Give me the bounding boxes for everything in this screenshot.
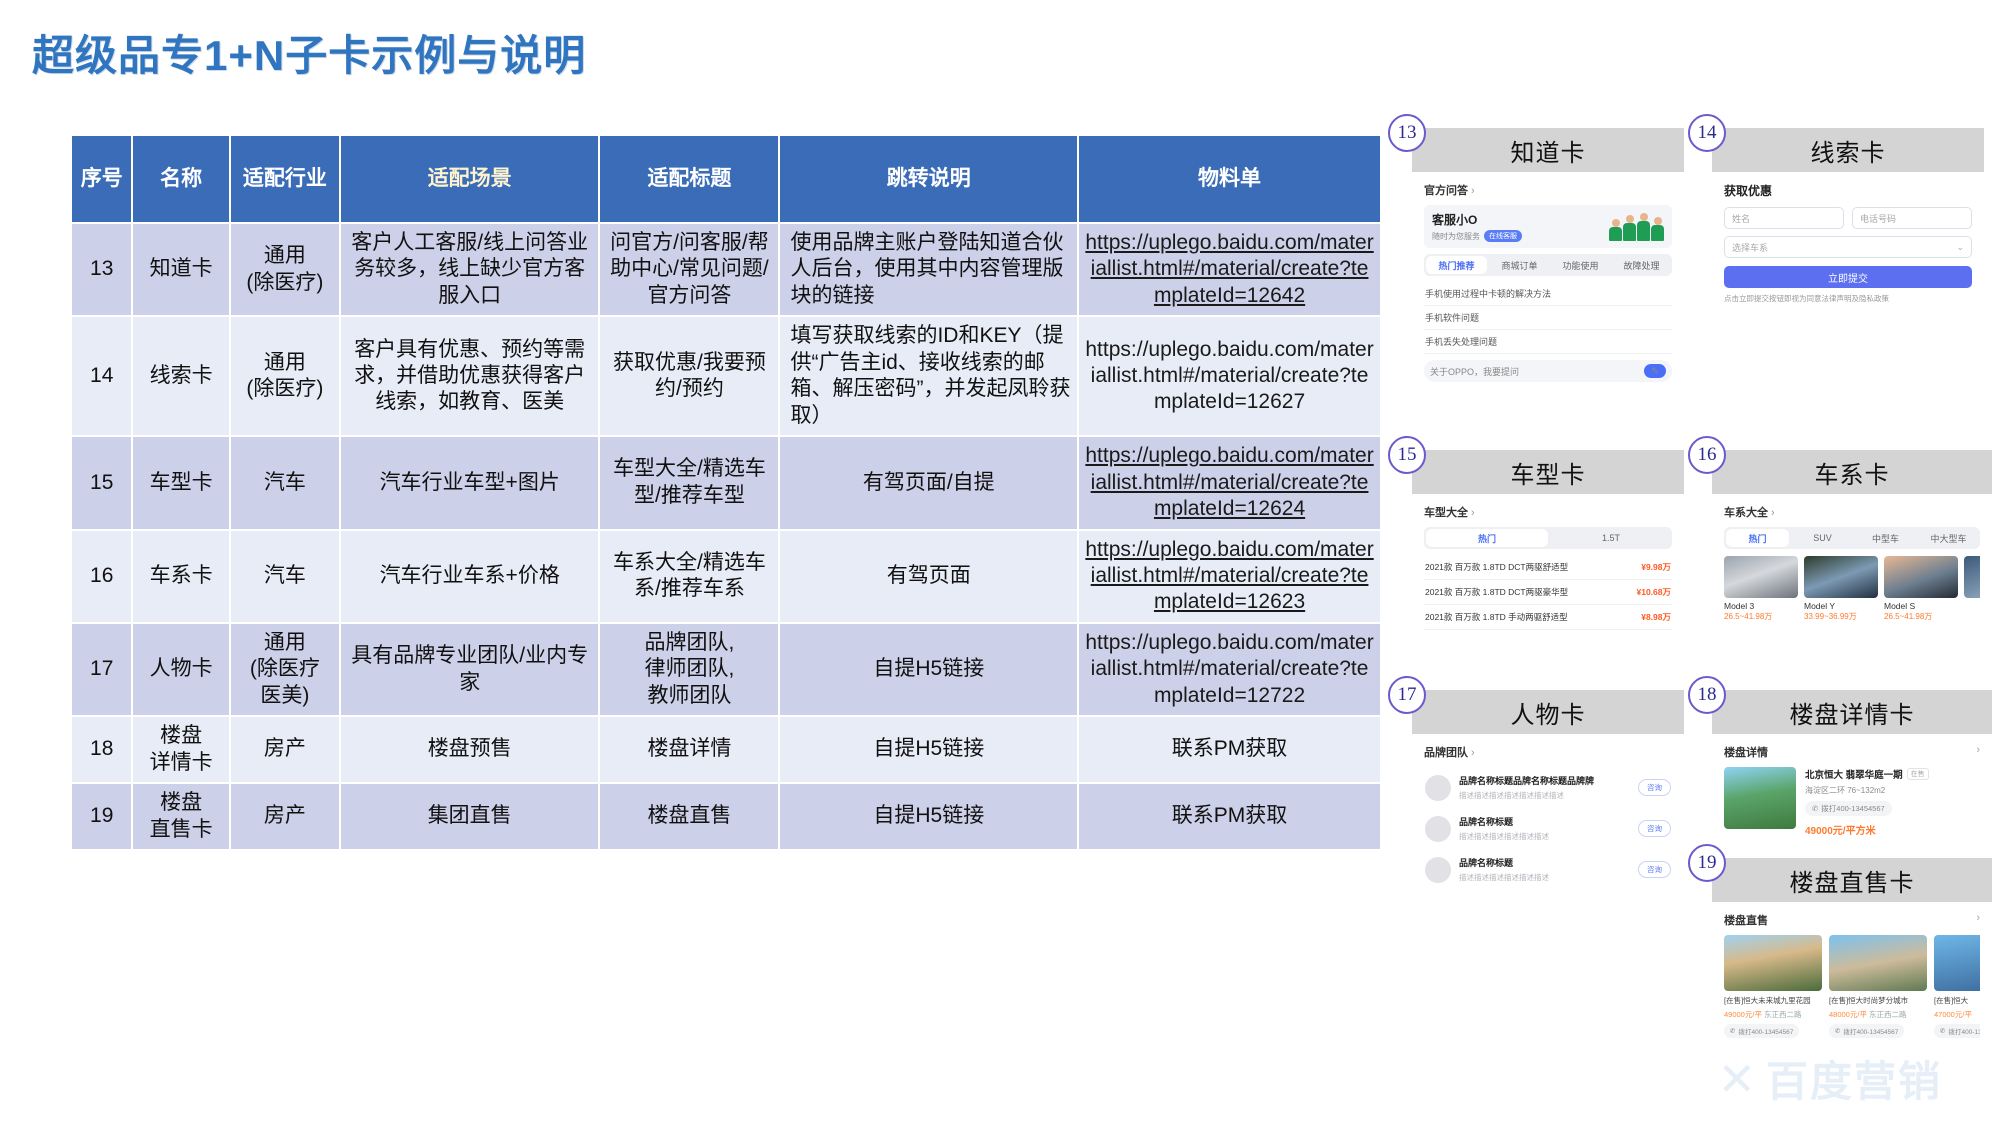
privacy-note: 点击立即提交按钮即视为同意法律声明及隐私政策 <box>1724 293 1972 304</box>
listing-phone-label: 拨打400-13454567 <box>1738 1026 1793 1036</box>
listing-price-value: 47000元/平 <box>1934 1010 1972 1019</box>
preview-card-15[interactable]: 15 车型卡 车型大全 › 热门1.5T 2021款 百万款 1.8TD DCT… <box>1412 450 1684 640</box>
cell-no: 18 <box>71 716 132 783</box>
service-agent-block[interactable]: 客服小O 随时为您服务 在线客服 <box>1424 205 1672 248</box>
listing-photo <box>1724 935 1822 991</box>
card-title-16: 车系卡 <box>1712 450 1992 494</box>
pencil-icon[interactable]: ✎ <box>1644 364 1666 378</box>
people-list-17: 品牌名称标题品牌名称标题品牌牌描述描述描述描述描述描述描述咨询品牌名称标题描述描… <box>1424 767 1672 890</box>
listing-price: 48000元/平 东正西二路 <box>1829 1009 1927 1020</box>
car-name: Model S <box>1884 601 1958 611</box>
tab-1[interactable]: 商城订单 <box>1489 254 1550 276</box>
car-photo <box>1804 556 1878 598</box>
submit-button[interactable]: 立即提交 <box>1724 266 1972 288</box>
section-link-19[interactable]: 楼盘直售 › <box>1724 912 1980 928</box>
series-select-value: 选择车系 <box>1732 241 1768 254</box>
cell-jump: 自提H5链接 <box>779 716 1078 783</box>
tab-0[interactable]: 热门 <box>1426 529 1548 547</box>
car-photo <box>1884 556 1958 598</box>
slide-root: 超级品专1+N子卡示例与说明 序号 名称 适配行业 适配场景 适配标题 跳转说明… <box>0 0 2000 1125</box>
listing-price: 49000元/平 东正西二路 <box>1724 1009 1822 1020</box>
cell-industry: 通用 (除医疗) <box>230 223 340 316</box>
card-previews-panel: 13 知道卡 官方问答 › 客服小O 随时为您服务 在线客服 <box>1412 128 1992 1118</box>
listing-phone-button[interactable]: ✆拨打400-13454567 <box>1934 1024 1980 1038</box>
cell-scene: 客户人工客服/线上问答业务较多，线上缺少官方客服入口 <box>340 223 599 316</box>
series-tabs-16[interactable]: 热门SUV中型车中大型车 <box>1724 527 1980 549</box>
card-body-15: 车型大全 › 热门1.5T 2021款 百万款 1.8TD DCT两驱舒适型¥9… <box>1412 494 1684 640</box>
material-link[interactable]: https://uplego.baidu.com/materiallist.ht… <box>1085 444 1373 520</box>
cell-no: 19 <box>71 783 132 850</box>
phone-icon: ✆ <box>1835 1027 1840 1035</box>
material-link: 联系PM获取 <box>1172 804 1288 827</box>
table-row: 14线索卡通用 (除医疗)客户具有优惠、预约等需求，并借助优惠获得客户线索，如教… <box>71 316 1381 436</box>
name-field[interactable]: 姓名 <box>1724 207 1844 229</box>
col-header-scene: 适配场景 <box>340 135 599 223</box>
section-link-label-17: 品牌团队 <box>1424 747 1468 759</box>
page-title: 超级品专1+N子卡示例与说明 <box>32 22 586 83</box>
cell-jump: 使用品牌主账户登陆知道合伙人后台，使用其中内容管理版块的链接 <box>779 223 1078 316</box>
model-tabs-15[interactable]: 热门1.5T <box>1424 527 1672 549</box>
cell-jump: 填写获取线索的ID和KEY（提供“广告主id、接收线索的邮箱、解压密码”，并发起… <box>779 316 1078 436</box>
table-body: 13知道卡通用 (除医疗)客户人工客服/线上问答业务较多，线上缺少官方客服入口问… <box>71 223 1381 850</box>
card-title-18: 楼盘详情卡 <box>1712 690 1992 734</box>
section-link-label-13: 官方问答 <box>1424 185 1468 197</box>
material-link[interactable]: https://uplego.baidu.com/materiallist.ht… <box>1085 631 1373 707</box>
car-item[interactable]: Model 326.5~41.98万 <box>1724 556 1798 622</box>
model-name: 2021款 百万款 1.8TD DCT两驱豪华型 <box>1425 586 1568 598</box>
person-name: 品牌名称标题 <box>1459 815 1630 828</box>
service-agent-sub-text: 随时为您服务 <box>1432 231 1480 242</box>
house-status-tag: 在售 <box>1907 768 1929 780</box>
phone-icon: ✆ <box>1940 1027 1945 1035</box>
material-link[interactable]: https://uplego.baidu.com/materiallist.ht… <box>1085 231 1373 307</box>
listing-price: 47000元/平 <box>1934 1009 1980 1020</box>
series-select[interactable]: 选择车系 ⌄ <box>1724 236 1972 258</box>
preview-card-17[interactable]: 17 人物卡 品牌团队 › 品牌名称标题品牌名称标题品牌牌描述描述描述描述描述描… <box>1412 690 1684 900</box>
cell-scene: 集团直售 <box>340 783 599 850</box>
car-name: Model 3 <box>1724 601 1798 611</box>
house-price: 49000元/平方米 <box>1805 822 1980 837</box>
listing-price-value: 49000元/平 <box>1724 1010 1762 1019</box>
preview-card-13[interactable]: 13 知道卡 官方问答 › 客服小O 随时为您服务 在线客服 <box>1412 128 1684 392</box>
cell-scene: 汽车行业车型+图片 <box>340 436 599 529</box>
cell-industry: 房产 <box>230 783 340 850</box>
listing-phone-label: 拨打400-13454567 <box>1948 1026 1980 1036</box>
arrow-right-icon: › <box>1976 912 1980 928</box>
section-link-label-18: 楼盘详情 <box>1724 744 1768 760</box>
material-link: 联系PM获取 <box>1172 737 1288 760</box>
section-link-label-15: 车型大全 <box>1424 507 1468 519</box>
card-badge-13: 13 <box>1388 114 1426 152</box>
listing-name: [在售]恒大未来城九里花园 <box>1724 995 1822 1006</box>
preview-card-14[interactable]: 14 线索卡 获取优惠 姓名 电话号码 选择车系 ⌄ 立即提交 点击立即提交按钮… <box>1712 128 1984 314</box>
person-desc: 描述描述描述描述描述描述 <box>1459 872 1630 883</box>
cell-no: 17 <box>71 623 132 716</box>
listing-item[interactable]: [在售]恒大时尚梦分城市48000元/平 东正西二路✆拨打400-1345456… <box>1829 935 1927 1038</box>
table-row: 17人物卡通用 (除医疗 医美)具有品牌专业团队/业内专家品牌团队, 律师团队,… <box>71 623 1381 716</box>
tab-0[interactable]: 热门 <box>1726 529 1789 547</box>
card-title-17: 人物卡 <box>1412 690 1684 734</box>
cell-title: 楼盘直售 <box>599 783 779 850</box>
tab-1[interactable]: SUV <box>1791 527 1854 549</box>
cell-title: 车型大全/精选车型/推荐车型 <box>599 436 779 529</box>
cell-scene: 汽车行业车系+价格 <box>340 530 599 623</box>
card-body-17: 品牌团队 › 品牌名称标题品牌名称标题品牌牌描述描述描述描述描述描述描述咨询品牌… <box>1412 734 1684 900</box>
tab-2[interactable]: 中型车 <box>1854 527 1917 549</box>
house-phone-button[interactable]: ✆ 拨打400-13454567 <box>1805 801 1892 816</box>
cell-industry: 汽车 <box>230 530 340 623</box>
chevron-right-icon: › <box>1468 747 1475 759</box>
listing-district: 东正西二路 <box>1762 1010 1802 1019</box>
person-name: 品牌名称标题品牌名称标题品牌牌 <box>1459 774 1630 787</box>
cell-material: 联系PM获取 <box>1078 783 1381 850</box>
section-link-label-19: 楼盘直售 <box>1724 912 1768 928</box>
card-title-15: 车型卡 <box>1412 450 1684 494</box>
section-link-15[interactable]: 车型大全 › <box>1424 504 1672 520</box>
card-badge-18: 18 <box>1688 676 1726 714</box>
listing-item[interactable]: [在售]恒大未来城九里花园49000元/平 东正西二路✆拨打400-134545… <box>1724 935 1822 1038</box>
card-body-14: 获取优惠 姓名 电话号码 选择车系 ⌄ 立即提交 点击立即提交按钮即视为同意法律… <box>1712 172 1984 314</box>
person-desc: 描述描述描述描述描述描述描述 <box>1459 790 1630 801</box>
avatar <box>1425 775 1451 801</box>
phone-icon: ✆ <box>1812 804 1818 813</box>
col-header-industry: 适配行业 <box>230 135 340 223</box>
cell-no: 14 <box>71 316 132 436</box>
cell-scene: 客户具有优惠、预约等需求，并借助优惠获得客户线索，如教育、医美 <box>340 316 599 436</box>
arrow-right-icon: › <box>1976 744 1980 760</box>
cell-no: 13 <box>71 223 132 316</box>
car-price: 26.5~41.98万 <box>1884 611 1958 622</box>
cell-material[interactable]: https://uplego.baidu.com/materiallist.ht… <box>1078 436 1381 529</box>
person-info: 品牌名称标题描述描述描述描述描述描述 <box>1459 856 1630 883</box>
listing-phone-button[interactable]: ✆拨打400-13454567 <box>1724 1024 1799 1038</box>
card-body-18: 楼盘详情 › 北京恒大 翡翠华庭一期 在售 海淀区二环 76~132m2 ✆ 拨… <box>1712 734 1992 847</box>
cell-name: 知道卡 <box>132 223 229 316</box>
section-link-13[interactable]: 官方问答 › <box>1424 182 1672 198</box>
table-row: 19楼盘 直售卡房产集团直售楼盘直售自提H5链接联系PM获取 <box>71 783 1381 850</box>
listing-photo <box>1829 935 1927 991</box>
cell-scene: 具有品牌专业团队/业内专家 <box>340 623 599 716</box>
question-item[interactable]: 手机丢失处理问题 <box>1424 330 1672 354</box>
avatar <box>1425 816 1451 842</box>
model-row[interactable]: 2021款 百万款 1.8TD DCT两驱舒适型¥9.98万 <box>1424 555 1672 580</box>
tab-2[interactable]: 功能使用 <box>1550 254 1611 276</box>
car-item[interactable]: Model S26.5~41.98万 <box>1884 556 1958 622</box>
model-row[interactable]: 2021款 百万款 1.8TD DCT两驱豪华型¥10.68万 <box>1424 580 1672 605</box>
phone-icon: ✆ <box>1730 1027 1735 1035</box>
ask-input-13[interactable]: 关于OPPO，我要提问 ✎ <box>1424 360 1672 382</box>
cell-jump: 自提H5链接 <box>779 783 1078 850</box>
cell-name: 车系卡 <box>132 530 229 623</box>
tab-1[interactable]: 1.5T <box>1550 527 1672 549</box>
listing-phone-label: 拨打400-13454567 <box>1843 1026 1898 1036</box>
cell-industry: 通用 (除医疗 医美) <box>230 623 340 716</box>
listing-list-19: [在售]恒大未来城九里花园49000元/平 东正西二路✆拨打400-134545… <box>1724 935 1980 1038</box>
chevron-right-icon: › <box>1768 507 1775 519</box>
lead-form-row: 姓名 电话号码 <box>1724 207 1972 229</box>
cell-title: 车系大全/精选车系/推荐车系 <box>599 530 779 623</box>
listing-phone-button[interactable]: ✆拨打400-13454567 <box>1829 1024 1904 1038</box>
card-body-16: 车系大全 › 热门SUV中型车中大型车 Model 326.5~41.98万Mo… <box>1712 494 1992 632</box>
model-price: ¥9.98万 <box>1641 561 1671 573</box>
cell-material[interactable]: https://uplego.baidu.com/materiallist.ht… <box>1078 623 1381 716</box>
phone-field[interactable]: 电话号码 <box>1852 207 1972 229</box>
cell-name: 线索卡 <box>132 316 229 436</box>
card-badge-14: 14 <box>1688 114 1726 152</box>
card-badge-16: 16 <box>1688 436 1726 474</box>
col-header-material: 物料单 <box>1078 135 1381 223</box>
chevron-right-icon: › <box>1468 185 1475 197</box>
section-link-label-16: 车系大全 <box>1724 507 1768 519</box>
person-action-button[interactable]: 咨询 <box>1638 779 1671 796</box>
car-item-partial[interactable] <box>1964 556 1980 622</box>
car-photo <box>1964 556 1980 598</box>
person-action-button[interactable]: 咨询 <box>1638 861 1671 878</box>
preview-card-16[interactable]: 16 车系卡 车系大全 › 热门SUV中型车中大型车 Model 326.5~4… <box>1712 450 1992 632</box>
col-header-name: 名称 <box>132 135 229 223</box>
table-header-row: 序号 名称 适配行业 适配场景 适配标题 跳转说明 物料单 <box>71 135 1381 223</box>
cell-title: 问官方/问客服/帮助中心/常见问题/官方问答 <box>599 223 779 316</box>
listing-photo <box>1934 935 1980 991</box>
house-name: 北京恒大 翡翠华庭一期 <box>1805 767 1903 781</box>
car-item[interactable]: Model Y33.99~36.99万 <box>1804 556 1878 622</box>
house-detail-row[interactable]: 北京恒大 翡翠华庭一期 在售 海淀区二环 76~132m2 ✆ 拨打400-13… <box>1724 767 1980 837</box>
preview-card-18[interactable]: 18 楼盘详情卡 楼盘详情 › 北京恒大 翡翠华庭一期 在售 海淀区二环 76~… <box>1712 690 1992 847</box>
section-link-16[interactable]: 车系大全 › <box>1724 504 1980 520</box>
model-name: 2021款 百万款 1.8TD 手动两驱舒适型 <box>1425 611 1568 623</box>
cell-material[interactable]: https://uplego.baidu.com/materiallist.ht… <box>1078 223 1381 316</box>
table-row: 13知道卡通用 (除医疗)客户人工客服/线上问答业务较多，线上缺少官方客服入口问… <box>71 223 1381 316</box>
preview-card-19[interactable]: 19 楼盘直售卡 楼盘直售 › [在售]恒大未来城九里花园49000元/平 东正… <box>1712 858 1992 1048</box>
person-info: 品牌名称标题品牌名称标题品牌牌描述描述描述描述描述描述描述 <box>1459 774 1630 801</box>
person-desc: 描述描述描述描述描述描述 <box>1459 831 1630 842</box>
lead-form-title: 获取优惠 <box>1724 182 1972 199</box>
listing-district: 东正西二路 <box>1867 1010 1907 1019</box>
tab-0[interactable]: 热门推荐 <box>1426 256 1487 274</box>
tab-3[interactable]: 中大型车 <box>1917 527 1980 549</box>
service-agent-name: 客服小O <box>1432 211 1522 228</box>
section-link-17[interactable]: 品牌团队 › <box>1424 744 1672 760</box>
card-badge-15: 15 <box>1388 436 1426 474</box>
avatar <box>1425 857 1451 883</box>
section-link-18[interactable]: 楼盘详情 › <box>1724 744 1980 760</box>
cards-spec-table-wrap: 序号 名称 适配行业 适配场景 适配标题 跳转说明 物料单 13知道卡通用 (除… <box>70 134 1382 851</box>
chevron-down-icon: ⌄ <box>1956 242 1964 253</box>
house-photo <box>1724 767 1796 829</box>
card-body-19: 楼盘直售 › [在售]恒大未来城九里花园49000元/平 东正西二路✆拨打400… <box>1712 902 1992 1048</box>
cell-name: 楼盘 详情卡 <box>132 716 229 783</box>
person-action-button[interactable]: 咨询 <box>1638 820 1671 837</box>
car-list-16: Model 326.5~41.98万Model Y33.99~36.99万Mod… <box>1724 556 1980 622</box>
col-header-no: 序号 <box>71 135 132 223</box>
card-badge-17: 17 <box>1388 676 1426 714</box>
card-title-13: 知道卡 <box>1412 128 1684 172</box>
model-row[interactable]: 2021款 百万款 1.8TD 手动两驱舒适型¥8.98万 <box>1424 605 1672 630</box>
cell-name: 人物卡 <box>132 623 229 716</box>
listing-name: [在售]恒大 <box>1934 995 1980 1006</box>
cell-title: 品牌团队, 律师团队, 教师团队 <box>599 623 779 716</box>
table-row: 15车型卡汽车汽车行业车型+图片车型大全/精选车型/推荐车型有驾页面/自提htt… <box>71 436 1381 529</box>
question-list-13: 手机使用过程中卡顿的解决方法手机软件问题手机丢失处理问题 <box>1424 282 1672 354</box>
cell-name: 楼盘 直售卡 <box>132 783 229 850</box>
cell-jump: 自提H5链接 <box>779 623 1078 716</box>
person-row[interactable]: 品牌名称标题描述描述描述描述描述描述咨询 <box>1424 808 1672 849</box>
cell-industry: 汽车 <box>230 436 340 529</box>
listing-name: [在售]恒大时尚梦分城市 <box>1829 995 1927 1006</box>
col-header-jump: 跳转说明 <box>779 135 1078 223</box>
listing-price-value: 48000元/平 <box>1829 1010 1867 1019</box>
cell-industry: 通用 (除医疗) <box>230 316 340 436</box>
material-link[interactable]: https://uplego.baidu.com/materiallist.ht… <box>1085 338 1373 414</box>
car-price: 26.5~41.98万 <box>1724 611 1798 622</box>
house-phone-label: 拨打400-13454567 <box>1821 803 1884 814</box>
model-name: 2021款 百万款 1.8TD DCT两驱舒适型 <box>1425 561 1568 573</box>
person-row[interactable]: 品牌名称标题品牌名称标题品牌牌描述描述描述描述描述描述描述咨询 <box>1424 767 1672 808</box>
card-body-13: 官方问答 › 客服小O 随时为您服务 在线客服 <box>1412 172 1684 392</box>
cell-material: 联系PM获取 <box>1078 716 1381 783</box>
ask-input-placeholder: 关于OPPO，我要提问 <box>1430 365 1519 378</box>
question-item[interactable]: 手机软件问题 <box>1424 306 1672 330</box>
model-price: ¥10.68万 <box>1637 586 1672 598</box>
cell-material[interactable]: https://uplego.baidu.com/materiallist.ht… <box>1078 530 1381 623</box>
chevron-right-icon: › <box>1468 507 1475 519</box>
car-price: 33.99~36.99万 <box>1804 611 1878 622</box>
question-item[interactable]: 手机使用过程中卡顿的解决方法 <box>1424 282 1672 306</box>
model-price: ¥8.98万 <box>1641 611 1671 623</box>
agents-photo <box>1609 213 1664 241</box>
card-title-19: 楼盘直售卡 <box>1712 858 1992 902</box>
tab-3[interactable]: 故障处理 <box>1611 254 1672 276</box>
col-header-title: 适配标题 <box>599 135 779 223</box>
car-name: Model Y <box>1804 601 1878 611</box>
cell-name: 车型卡 <box>132 436 229 529</box>
car-photo <box>1724 556 1798 598</box>
cell-material[interactable]: https://uplego.baidu.com/materiallist.ht… <box>1078 316 1381 436</box>
material-link[interactable]: https://uplego.baidu.com/materiallist.ht… <box>1085 538 1373 614</box>
service-online-pill: 在线客服 <box>1484 230 1522 242</box>
service-agent-sub: 随时为您服务 在线客服 <box>1432 230 1522 242</box>
cell-scene: 楼盘预售 <box>340 716 599 783</box>
cell-no: 16 <box>71 530 132 623</box>
house-address: 海淀区二环 76~132m2 <box>1805 785 1980 796</box>
cell-no: 15 <box>71 436 132 529</box>
card-badge-19: 19 <box>1688 844 1726 882</box>
cell-title: 获取优惠/我要预约/预约 <box>599 316 779 436</box>
topic-tabs-13[interactable]: 热门推荐商城订单功能使用故障处理 <box>1424 254 1672 276</box>
listing-item[interactable]: [在售]恒大47000元/平 ✆拨打400-13454567 <box>1934 935 1980 1038</box>
cell-title: 楼盘详情 <box>599 716 779 783</box>
cards-spec-table: 序号 名称 适配行业 适配场景 适配标题 跳转说明 物料单 13知道卡通用 (除… <box>70 134 1382 851</box>
table-row: 16车系卡汽车汽车行业车系+价格车系大全/精选车系/推荐车系有驾页面https:… <box>71 530 1381 623</box>
table-row: 18楼盘 详情卡房产楼盘预售楼盘详情自提H5链接联系PM获取 <box>71 716 1381 783</box>
person-name: 品牌名称标题 <box>1459 856 1630 869</box>
cell-industry: 房产 <box>230 716 340 783</box>
person-info: 品牌名称标题描述描述描述描述描述描述 <box>1459 815 1630 842</box>
cell-jump: 有驾页面 <box>779 530 1078 623</box>
model-list-15: 2021款 百万款 1.8TD DCT两驱舒适型¥9.98万2021款 百万款 … <box>1424 555 1672 630</box>
person-row[interactable]: 品牌名称标题描述描述描述描述描述描述咨询 <box>1424 849 1672 890</box>
cell-jump: 有驾页面/自提 <box>779 436 1078 529</box>
card-title-14: 线索卡 <box>1712 128 1984 172</box>
